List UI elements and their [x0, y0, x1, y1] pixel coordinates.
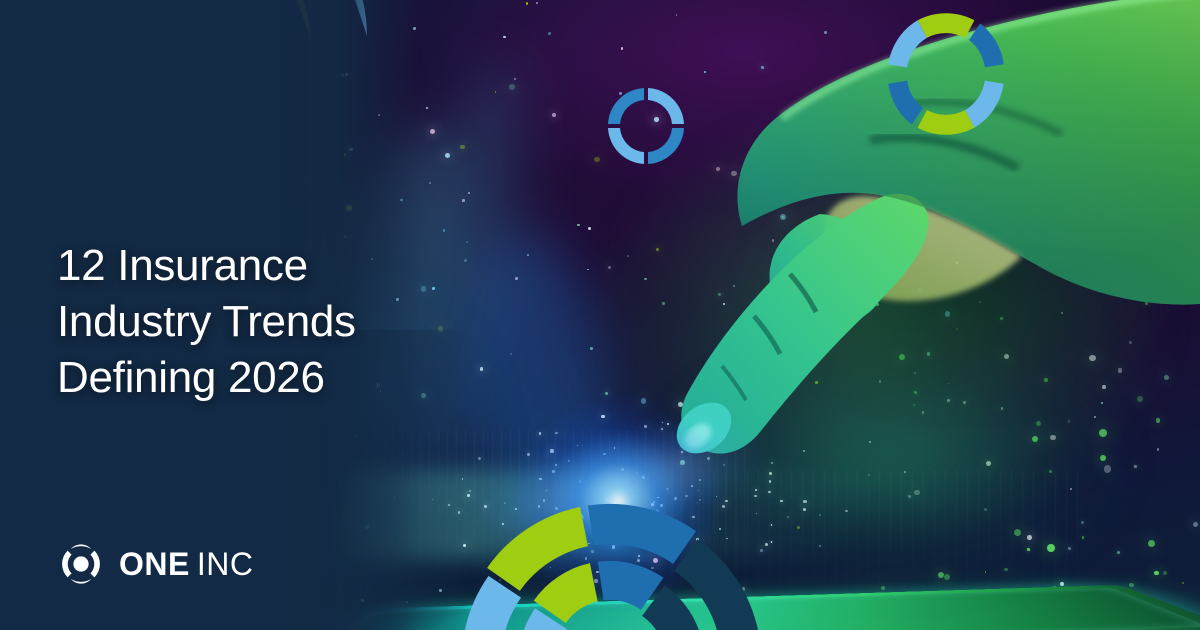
- ring-segment: [888, 20, 927, 67]
- ring-segment: [918, 110, 975, 135]
- ring-segment: [648, 128, 684, 164]
- ring-segment: [888, 81, 923, 125]
- ring-segment: [965, 81, 1004, 128]
- logo-ring-segment-top: [71, 544, 92, 549]
- ring-top-right: [874, 2, 1018, 146]
- ring-segments: [888, 13, 1003, 134]
- page-title: 12 Insurance Industry Trends Defining 20…: [57, 238, 437, 406]
- ring-bottom-center: [440, 478, 780, 630]
- social-card-canvas: 12 Insurance Industry Trends Defining 20…: [0, 0, 1200, 630]
- ring-segment: [648, 88, 684, 124]
- ring-segment: [608, 88, 644, 124]
- brand-wordmark: ONE INC: [119, 548, 253, 580]
- logo-ring-segment-left: [62, 551, 72, 578]
- brand-word-secondary: INC: [197, 548, 254, 580]
- brand-logo: ONE INC: [57, 540, 253, 588]
- logo-ring-segment-bottom: [71, 579, 92, 584]
- ring-top-center: [600, 80, 692, 172]
- logo-ring-segment-right: [90, 551, 100, 578]
- logo-hub: [73, 556, 88, 571]
- one-inc-lifering-logo-icon: [57, 540, 105, 588]
- ring-segment: [608, 128, 644, 164]
- brand-word-primary: ONE: [119, 548, 190, 580]
- ring-segment: [918, 13, 975, 38]
- ring-segment: [969, 24, 1004, 68]
